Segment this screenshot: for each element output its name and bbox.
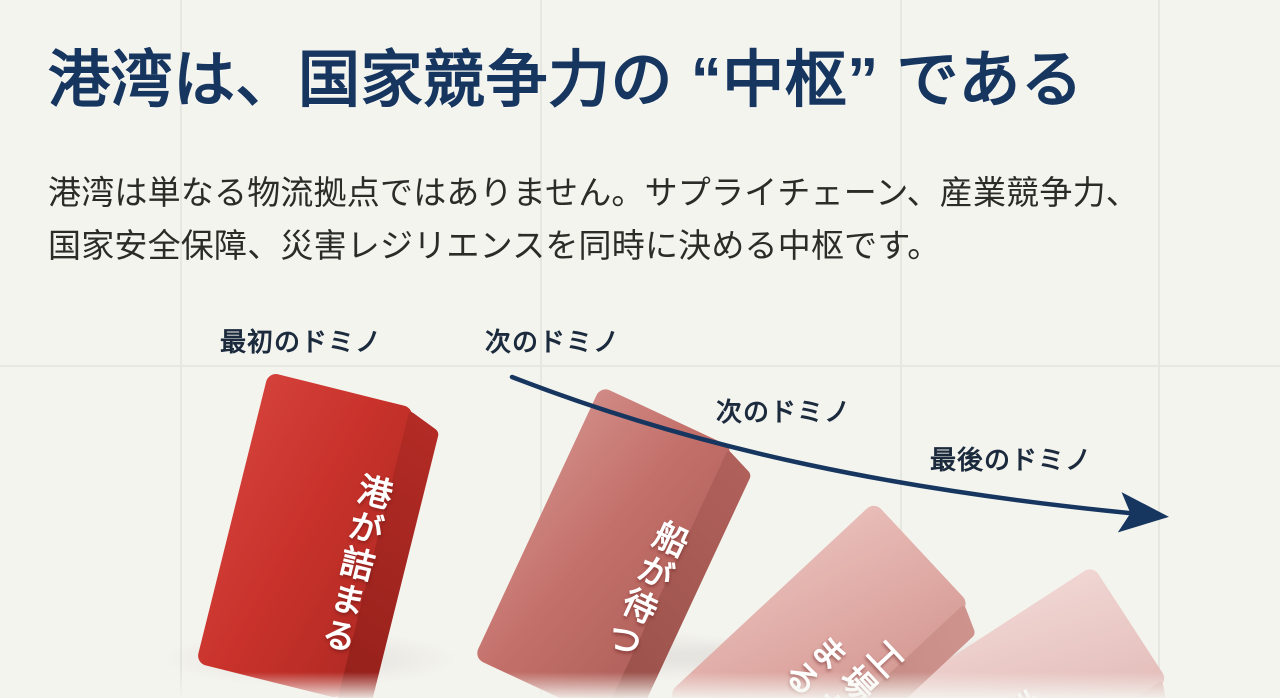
page-title: 港湾は、国家競争力の “中枢” である	[48, 48, 1228, 114]
subtitle-block: 港湾は単なる物流拠点ではありません。サプライチェーン、産業競争力、 国家安全保障…	[48, 166, 1263, 273]
domino-diagram: 経済が止まる 工場が止まる 船が待つ 港が詰まる	[0, 340, 1280, 698]
callout-next-domino-2: 次のドミノ	[716, 392, 851, 429]
subtitle-line-2: 国家安全保障、災害レジリエンスを同時に決める中枢です。	[48, 219, 1263, 272]
callout-next-domino-1: 次のドミノ	[485, 322, 620, 359]
subtitle-line-1: 港湾は単なる物流拠点ではありません。サプライチェーン、産業競争力、	[48, 166, 1263, 219]
domino-tile-ship: 船が待つ	[474, 386, 733, 698]
slide-canvas: 港湾は、国家競争力の “中枢” である 港湾は単なる物流拠点ではありません。サプ…	[0, 0, 1280, 698]
callout-last-domino: 最後のドミノ	[930, 440, 1092, 477]
callout-first-domino: 最初のドミノ	[220, 322, 382, 359]
domino-tile-port: 港が詰まる	[196, 372, 414, 698]
